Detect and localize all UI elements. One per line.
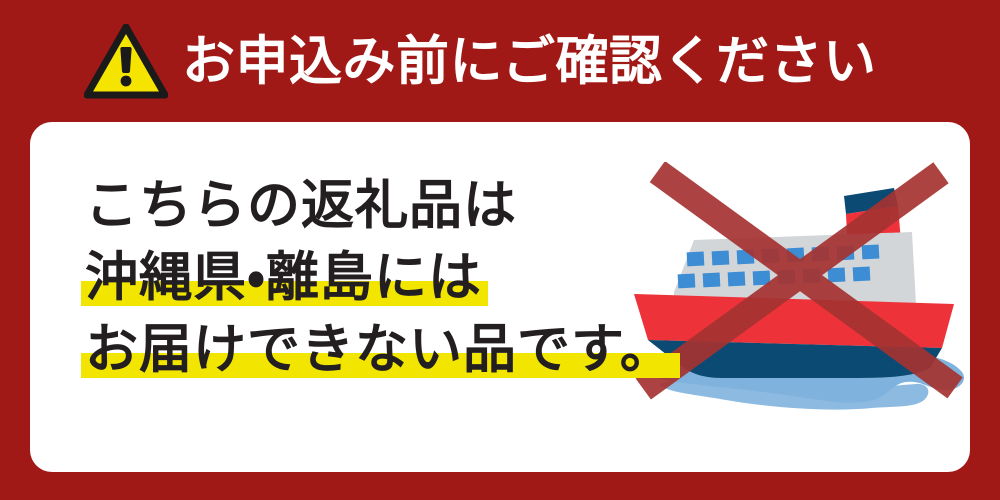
message-line-2-text: 沖縄県・離島には [85,242,482,314]
banner-header: お申込み前にご確認ください [0,0,1000,122]
notice-banner: お申込み前にご確認ください こちらの返礼品は 沖縄県・離島には お届けできない品… [0,0,1000,500]
message-line-3-text: お届けできない品です。 [85,314,674,386]
message-line-1-text: こちらの返礼品は [85,170,517,242]
message-line-2: 沖縄県・離島には [85,242,645,314]
ferry-ship-illustration [630,162,970,422]
warning-triangle-icon [84,24,168,100]
notice-message: こちらの返礼品は 沖縄県・離島には お届けできない品です。 [85,170,645,386]
message-line-3: お届けできない品です。 [85,314,645,386]
notice-card: こちらの返礼品は 沖縄県・離島には お届けできない品です。 [30,122,970,472]
message-line-1: こちらの返礼品は [85,170,645,242]
banner-title: お申込み前にご確認ください [182,35,876,88]
